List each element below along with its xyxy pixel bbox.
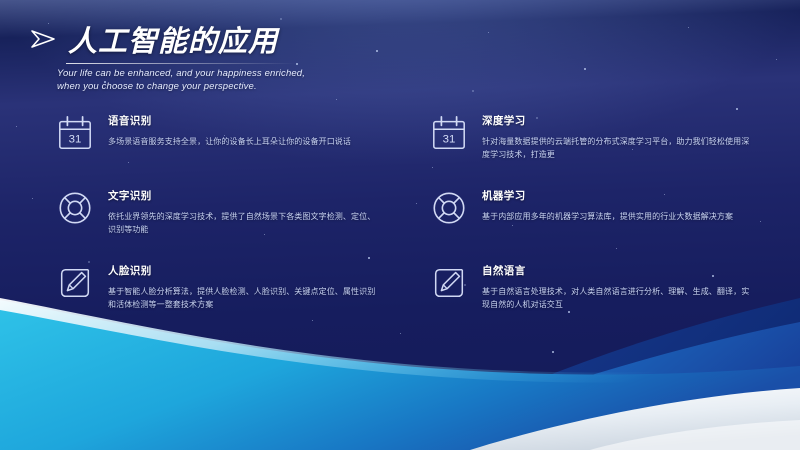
slide-subtitle: Your life can be enhanced, and your happ…: [57, 68, 305, 93]
feature-title: 机器学习: [482, 188, 733, 203]
feature-desc: 基于内部应用多年的机器学习算法库，提供实用的行业大数据解决方案: [482, 210, 733, 223]
feature-item[interactable]: 31 深度学习 针对海量数据提供的云端托管的分布式深度学习平台，助力我们轻松使用…: [430, 112, 756, 161]
feature-item[interactable]: 文字识别 依托业界领先的深度学习技术，提供了自然场景下各类图文字检测、定位、识别…: [56, 187, 382, 236]
calendar-day-label: 31: [69, 134, 82, 146]
wave-decoration: [0, 270, 800, 450]
feature-text: 深度学习 针对海量数据提供的云端托管的分布式深度学习平台，助力我们轻松使用深度学…: [482, 112, 754, 161]
feature-title: 深度学习: [482, 113, 754, 128]
chevron-right-icon: [30, 27, 56, 51]
calendar-icon: 31: [56, 114, 94, 152]
feature-title: 文字识别: [108, 188, 380, 203]
feature-desc: 多场景语音服务支持全景，让你的设备长上耳朵让你的设备开口说话: [108, 135, 351, 148]
title-row: 人工智能的应用: [30, 18, 305, 60]
slide-header: 人工智能的应用 Your life can be enhanced, and y…: [30, 18, 305, 93]
feature-title: 语音识别: [108, 113, 351, 128]
feature-desc: 针对海量数据提供的云端托管的分布式深度学习平台，助力我们轻松使用深度学习技术，打…: [482, 135, 754, 161]
feature-text: 语音识别 多场景语音服务支持全景，让你的设备长上耳朵让你的设备开口说话: [108, 112, 351, 148]
calendar-icon: 31: [430, 114, 468, 152]
feature-text: 机器学习 基于内部应用多年的机器学习算法库，提供实用的行业大数据解决方案: [482, 187, 733, 223]
presentation-slide: 人工智能的应用 Your life can be enhanced, and y…: [0, 0, 800, 450]
feature-text: 文字识别 依托业界领先的深度学习技术，提供了自然场景下各类图文字检测、定位、识别…: [108, 187, 380, 236]
title-underline: [66, 63, 296, 64]
feature-item[interactable]: 31 语音识别 多场景语音服务支持全景，让你的设备长上耳朵让你的设备开口说话: [56, 112, 382, 161]
feature-desc: 依托业界领先的深度学习技术，提供了自然场景下各类图文字检测、定位、识别等功能: [108, 210, 380, 236]
calendar-day-label: 31: [443, 134, 456, 146]
lifebuoy-icon: [430, 189, 468, 227]
lifebuoy-icon: [56, 189, 94, 227]
page-title: 人工智能的应用: [68, 18, 278, 60]
feature-item[interactable]: 机器学习 基于内部应用多年的机器学习算法库，提供实用的行业大数据解决方案: [430, 187, 756, 236]
